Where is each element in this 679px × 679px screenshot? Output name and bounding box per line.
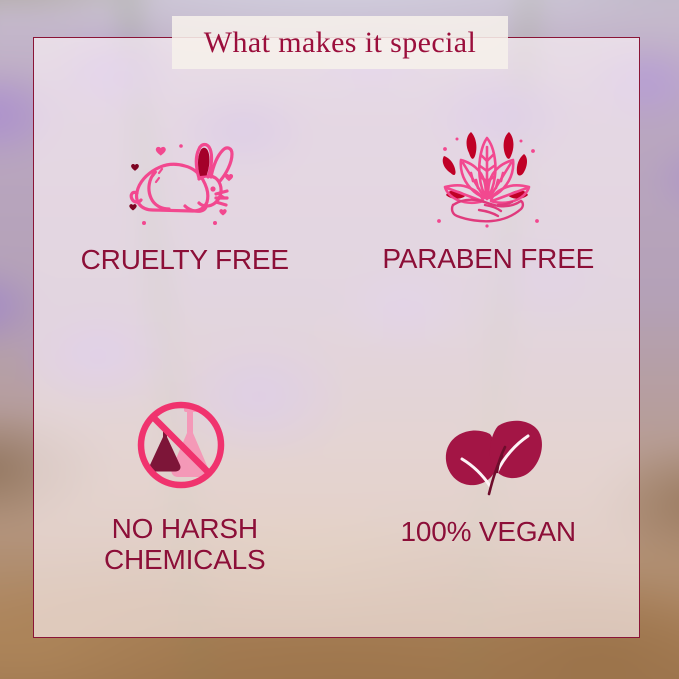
product-feature-infographic: What makes it special	[0, 0, 679, 679]
feature-item-vegan: 100% VEGAN	[337, 354, 641, 639]
page-title: What makes it special	[204, 28, 476, 58]
vegan-leaves-icon	[442, 412, 546, 496]
rabbit-icon	[123, 132, 239, 228]
feature-label-vegan: 100% VEGAN	[401, 516, 576, 547]
feature-item-no-harsh-chemicals: NO HARSH CHEMICALS	[33, 354, 337, 639]
feature-label-cruelty-free: CRUELTY FREE	[81, 244, 289, 275]
feature-grid: CRUELTY FREE	[33, 69, 640, 638]
feature-item-cruelty-free: CRUELTY FREE	[33, 69, 337, 354]
feature-item-paraben-free: PARABEN FREE	[337, 69, 641, 354]
feature-label-paraben-free: PARABEN FREE	[382, 243, 594, 274]
feature-label-no-harsh-chemicals: NO HARSH CHEMICALS	[104, 513, 266, 576]
hand-holding-plant-icon	[429, 125, 547, 229]
no-chemicals-flask-icon	[129, 393, 233, 497]
title-banner: What makes it special	[172, 16, 508, 69]
